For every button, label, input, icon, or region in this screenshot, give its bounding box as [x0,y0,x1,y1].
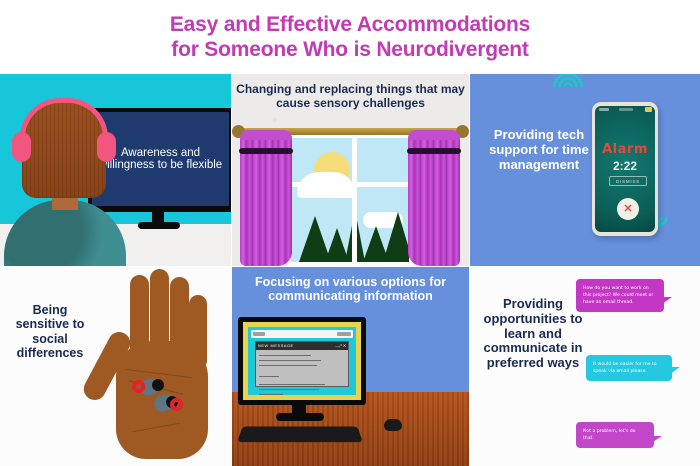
panel-communication-options: Focusing on various options for communic… [232,267,469,466]
window-controls[interactable]: – ⤢ ✕ [335,342,346,350]
window-mullion-horizontal [291,182,409,187]
desktop-screen: NEW MESSAGE – ⤢ ✕ [248,327,356,395]
panel-social-differences: Being sensitive to social differences [0,267,231,466]
panel-preferred-ways-caption: Providing opportunities to learn and com… [474,297,592,371]
page-title-line-1: Easy and Effective Accommodations [170,12,530,37]
panel-sensory-changes-caption: Changing and replacing things that may c… [236,83,465,110]
message-field-line [259,365,317,366]
panel-awareness: Awareness and willingness to be flexible [0,74,231,266]
page-title-line-2: for Someone Who is Neurodivergent [171,37,528,62]
close-alarm-button[interactable]: ✕ [617,198,639,220]
earplug-ring-icon [132,380,145,393]
curtain-tieback-right [407,148,461,154]
mouse[interactable] [384,419,402,431]
panel-grid: Awareness and willingness to be flexible… [0,74,700,466]
person-illustration [0,96,128,266]
chat-bubble-2: It would be easier for me to speak via e… [586,355,672,381]
toolbar-buttons[interactable] [337,332,351,336]
alarm-time: 2:22 [595,159,655,173]
grid-divider-vertical-2 [469,74,470,466]
clock-icon [619,108,633,111]
window-illustration [287,134,413,266]
phone-screen: Alarm 2:22 DISMISS ✕ [595,106,655,232]
battery-icon [645,107,652,112]
phone-status-bar [595,106,655,114]
message-field-line [259,360,321,361]
earplug-tip [152,379,164,391]
infographic-page: Easy and Effective Accommodations for So… [0,0,700,466]
page-title: Easy and Effective Accommodations for So… [0,0,700,74]
chat-bubble-3: Not a problem, let's do that. [576,422,654,448]
panel-tech-support-caption: Providing tech support for time manageme… [476,128,602,172]
panel-preferred-ways: Providing opportunities to learn and com… [470,267,700,466]
signal-icon [599,108,609,111]
panel-social-differences-caption: Being sensitive to social differences [8,303,92,360]
new-message-window: NEW MESSAGE – ⤢ ✕ [255,341,349,387]
curtain-tieback-left [239,148,293,154]
message-body-line [259,384,325,385]
message-body-line [259,394,283,395]
desktop-monitor-frame: NEW MESSAGE – ⤢ ✕ [238,317,366,405]
hand-illustration [88,269,231,466]
panel-communication-options-caption: Focusing on various options for communic… [236,275,465,304]
panel-tech-support: Providing tech support for time manageme… [470,74,700,266]
grid-divider-horizontal [0,266,700,267]
desktop-stand-base [276,413,324,421]
headphones-earcup-right-icon [97,132,116,162]
panel-sensory-changes: Changing and replacing things that may c… [232,74,469,266]
message-body-line [259,389,319,390]
address-bar[interactable] [253,332,265,336]
message-body-line [259,376,279,377]
new-message-window-title: NEW MESSAGE [256,342,348,350]
browser-toolbar [251,330,353,338]
window-mullion-vertical [352,138,357,262]
earplug-ring-icon [170,398,183,411]
alarm-label: Alarm [595,142,655,157]
dismiss-button[interactable]: DISMISS [609,176,647,186]
headphones-headband-icon [20,98,108,138]
headphones-earcup-left-icon [12,132,31,162]
message-field-line [259,355,311,356]
monitor-stand-base [138,222,180,229]
monitor-mat-yellow: NEW MESSAGE – ⤢ ✕ [243,322,361,400]
keyboard[interactable] [237,427,363,443]
